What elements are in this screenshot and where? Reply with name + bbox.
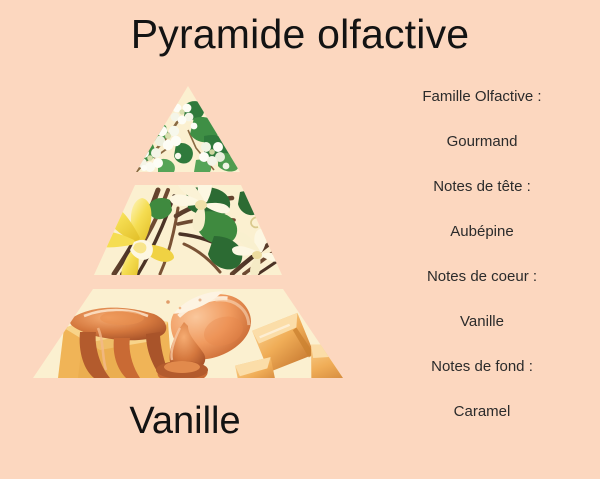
pyramid-tier-middle (90, 174, 286, 286)
note-row-coeur-label: Notes de coeur : (368, 254, 596, 299)
note-row-tete-label: Notes de tête : (368, 164, 596, 209)
note-label: Notes de coeur : (427, 268, 537, 285)
note-label: Famille Olfactive : (422, 88, 541, 105)
note-row-coeur-value: Vanille (368, 299, 596, 344)
page-title: Pyramide olfactive (0, 14, 600, 55)
note-row-fond-value: Caramel (368, 389, 596, 434)
pyramid-caption: Vanille (10, 402, 360, 440)
note-row-fond-label: Notes de fond : (368, 344, 596, 389)
olfactive-pyramid-diagram (18, 78, 358, 384)
olfactive-notes-list: Famille Olfactive : Gourmand Notes de tê… (368, 74, 596, 434)
note-row-tete-value: Aubépine (368, 209, 596, 254)
note-label: Notes de tête : (433, 178, 531, 195)
note-value: Vanille (460, 313, 504, 330)
note-row-famille-label: Famille Olfactive : (368, 74, 596, 119)
note-label: Notes de fond : (431, 358, 533, 375)
note-value: Caramel (454, 403, 511, 420)
pyramid-tier-top (136, 86, 240, 172)
pyramid-tier-bottom (33, 283, 358, 384)
note-value: Aubépine (450, 223, 513, 240)
note-row-famille-value: Gourmand (368, 119, 596, 164)
note-value: Gourmand (447, 133, 518, 150)
